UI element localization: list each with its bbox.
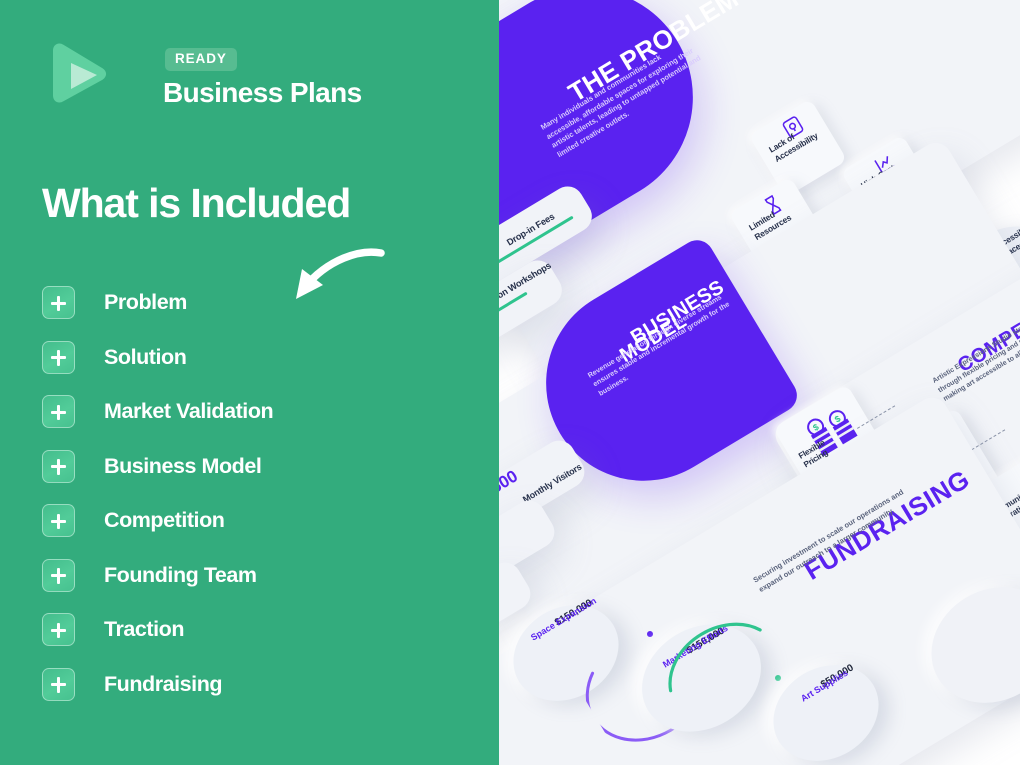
list-item-label: Market Validation (104, 399, 273, 424)
list-item-label: Business Model (104, 454, 261, 479)
slide-deck-preview: THE PROBLEM Many individuals and communi… (499, 0, 1020, 765)
list-item[interactable]: Problem (42, 282, 472, 323)
plus-box-icon (42, 559, 75, 592)
panel-edge-fade (499, 0, 513, 765)
list-item-label: Fundraising (104, 672, 222, 697)
included-list: Problem Solution Market Validation Busin… (42, 282, 472, 718)
list-item[interactable]: Solution (42, 337, 472, 378)
slide-preview-page: READY Business Plans What is Included Pr… (0, 0, 1020, 765)
left-green-panel: READY Business Plans What is Included Pr… (0, 0, 499, 765)
list-item[interactable]: Market Validation (42, 391, 472, 432)
plus-box-icon (42, 504, 75, 537)
plus-box-icon (42, 286, 75, 319)
page-title: What is Included (42, 182, 350, 225)
list-item[interactable]: Traction (42, 609, 472, 650)
plus-box-icon (42, 395, 75, 428)
list-item[interactable]: Founding Team (42, 555, 472, 596)
list-item-label: Solution (104, 345, 186, 370)
list-item[interactable]: Fundraising (42, 664, 472, 705)
list-item-label: Problem (104, 290, 187, 315)
list-item[interactable]: Competition (42, 500, 472, 541)
ready-badge: READY (165, 48, 237, 71)
brand-block: READY Business Plans (47, 36, 377, 116)
play-triangle-logo (47, 41, 109, 105)
plus-box-icon (42, 613, 75, 646)
list-item-label: Founding Team (104, 563, 257, 588)
plus-box-icon (42, 450, 75, 483)
list-item-label: Competition (104, 508, 224, 533)
brand-title: Business Plans (163, 78, 362, 109)
plus-box-icon (42, 668, 75, 701)
list-item[interactable]: Business Model (42, 446, 472, 487)
list-item-label: Traction (104, 617, 184, 642)
plus-box-icon (42, 341, 75, 374)
fundraising-node-dot (775, 675, 781, 681)
